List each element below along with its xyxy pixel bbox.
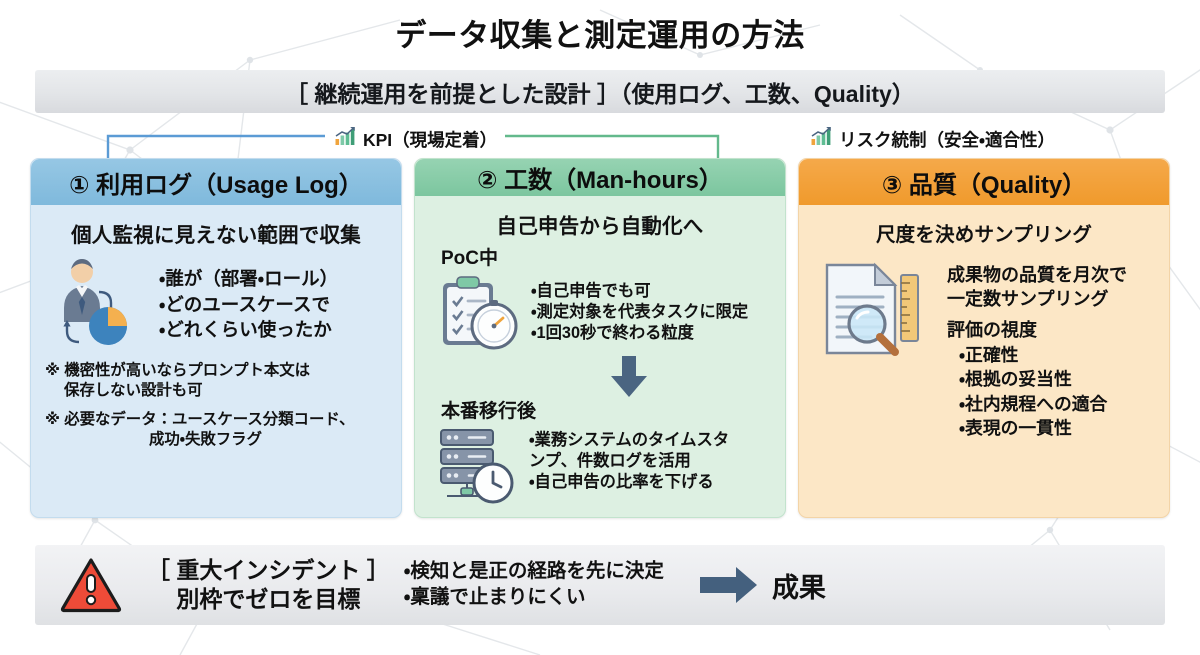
card-usage-log-body: 個人監視に見えない範囲で収集 (31, 205, 401, 517)
document-magnifier-ruler-icon (821, 261, 933, 362)
list-item: 表現の一貫性 (959, 416, 1127, 440)
quality-sub-heading: 評価の視度 (947, 316, 1127, 342)
card-man-hours-header: ② 工数（Man-hours） (415, 159, 785, 196)
list-item: 業務システムのタイムスタンプ、件数ログを活用 (529, 430, 734, 472)
note-line: ※ 機密性が高いならプロンプト本文は (45, 361, 387, 381)
page-title: データ収集と測定運用の方法 (0, 10, 1200, 55)
list-item: 正確性 (959, 343, 1127, 367)
phase1-bullet-list: 自己申告でも可 測定対象を代表タスクに限定 1回30秒で終わる粒度 (531, 281, 748, 345)
list-item: 根拠の妥当性 (959, 367, 1127, 391)
transition-arrow-wrap (487, 356, 771, 398)
risk-group-label: リスク統制（安全・適合性） (810, 126, 1055, 152)
bar-chart-growth-icon (810, 126, 834, 152)
person-analytics-icon (49, 256, 145, 353)
server-clock-icon (435, 424, 519, 509)
list-item: 自己申告でも可 (531, 281, 748, 302)
note-line: 成功・失敗フラグ (45, 430, 387, 450)
right-arrow-icon (700, 565, 758, 605)
card-quality-lead: 尺度を決めサンプリング (813, 218, 1155, 247)
card-quality-text-block: 成果物の品質を月次で 一定数サンプリング 評価の視度 正確性 根拠の妥当性 社内… (947, 263, 1127, 440)
card-usage-log-note-1: ※ 機密性が高いならプロンプト本文は 保存しない設計も可 (45, 361, 387, 402)
list-item: どのユースケースで (159, 292, 338, 318)
card-man-hours[interactable]: ② 工数（Man-hours） 自己申告から自動化へ PoC中 (414, 158, 786, 518)
card-man-hours-lead: 自己申告から自動化へ (429, 209, 771, 239)
footer-result-label: 成果 (772, 566, 826, 605)
card-usage-log[interactable]: ① 利用ログ（Usage Log） 個人監視に見えない範囲で収集 (30, 158, 402, 518)
columns-container: ① 利用ログ（Usage Log） 個人監視に見えない範囲で収集 (30, 158, 1170, 518)
quality-text-line2: 一定数サンプリング (947, 287, 1127, 311)
subtitle-text: ［ 継続運用を前提とした設計 ］（使用ログ、工数、Quality） (285, 75, 915, 109)
quality-text-line1: 成果物の品質を月次で (947, 263, 1127, 287)
phase2-bullet-list: 業務システムのタイムスタンプ、件数ログを活用 自己申告の比率を下げる (529, 430, 734, 494)
card-usage-log-bullet-list: 誰が（部署・ロール） どのユースケースで どれくらい使ったか (159, 266, 338, 343)
card-quality-body: 尺度を決めサンプリング (799, 205, 1169, 517)
list-item: どれくらい使ったか (159, 317, 338, 343)
kpi-group-label: KPI（現場定着） (334, 126, 497, 152)
list-item: 誰が（部署・ロール） (159, 266, 338, 292)
risk-group-label-text: リスク統制（安全・適合性） (839, 127, 1055, 152)
incident-points: 検知と是正の経路を先に決定 稟議で止まりにくい (404, 559, 664, 610)
card-quality[interactable]: ③ 品質（Quality） 尺度を決めサンプリング (798, 158, 1170, 518)
phase2-label: 本番移行後 (441, 396, 771, 423)
note-line: 保存しない設計も可 (45, 381, 387, 401)
phase1-label: PoC中 (441, 243, 771, 270)
card-man-hours-body: 自己申告から自動化へ PoC中 (415, 196, 785, 517)
incident-title-block: ［ 重大インシデント ］ 別枠でゼロを目標 (147, 556, 390, 615)
card-quality-bullet-list: 正確性 根拠の妥当性 社内規程への適合 表現の一貫性 (959, 343, 1127, 440)
down-arrow-icon (607, 356, 651, 398)
card-quality-header: ③ 品質（Quality） (799, 159, 1169, 205)
clipboard-stopwatch-icon (435, 271, 521, 358)
card-usage-log-header: ① 利用ログ（Usage Log） (31, 159, 401, 205)
warning-triangle-icon (35, 557, 147, 613)
card-usage-log-lead: 個人監視に見えない範囲で収集 (45, 218, 387, 248)
note-line: ※ 必要なデータ：ユースケース分類コード、 (45, 410, 387, 430)
subtitle-banner: ［ 継続運用を前提とした設計 ］（使用ログ、工数、Quality） (35, 70, 1165, 113)
list-item: 検知と是正の経路を先に決定 (404, 559, 664, 585)
list-item: 稟議で止まりにくい (404, 585, 664, 611)
list-item: 自己申告の比率を下げる (529, 472, 734, 493)
list-item: 測定対象を代表タスクに限定 (531, 302, 748, 323)
card-usage-log-note-2: ※ 必要なデータ：ユースケース分類コード、 成功・失敗フラグ (45, 410, 387, 451)
incident-line-2: 別枠でゼロを目標 (147, 585, 390, 614)
bar-chart-growth-icon (334, 126, 358, 152)
footer-incident-bar: ［ 重大インシデント ］ 別枠でゼロを目標 検知と是正の経路を先に決定 稟議で止… (35, 545, 1165, 625)
list-item: 1回30秒で終わる粒度 (531, 323, 748, 344)
incident-line-1: ［ 重大インシデント ］ (147, 556, 390, 585)
list-item: 社内規程への適合 (959, 392, 1127, 416)
kpi-group-label-text: KPI（現場定着） (363, 127, 497, 152)
